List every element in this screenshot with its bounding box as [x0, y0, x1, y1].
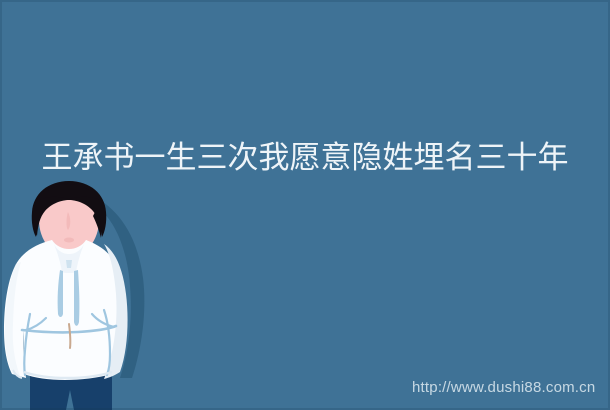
- site-url-watermark: http://www.dushi88.com.cn: [412, 379, 595, 397]
- illustration-person-in-hoodie: [0, 178, 165, 410]
- collar-knot: [66, 260, 72, 268]
- screenshot-canvas: 王承书一生三次我愿意隐姓埋名三十年 http://www.dushi88.com…: [0, 0, 610, 410]
- mouth-shade: [64, 238, 74, 243]
- page-title: 王承书一生三次我愿意隐姓埋名三十年: [0, 140, 610, 176]
- hoodie-group: [4, 240, 128, 380]
